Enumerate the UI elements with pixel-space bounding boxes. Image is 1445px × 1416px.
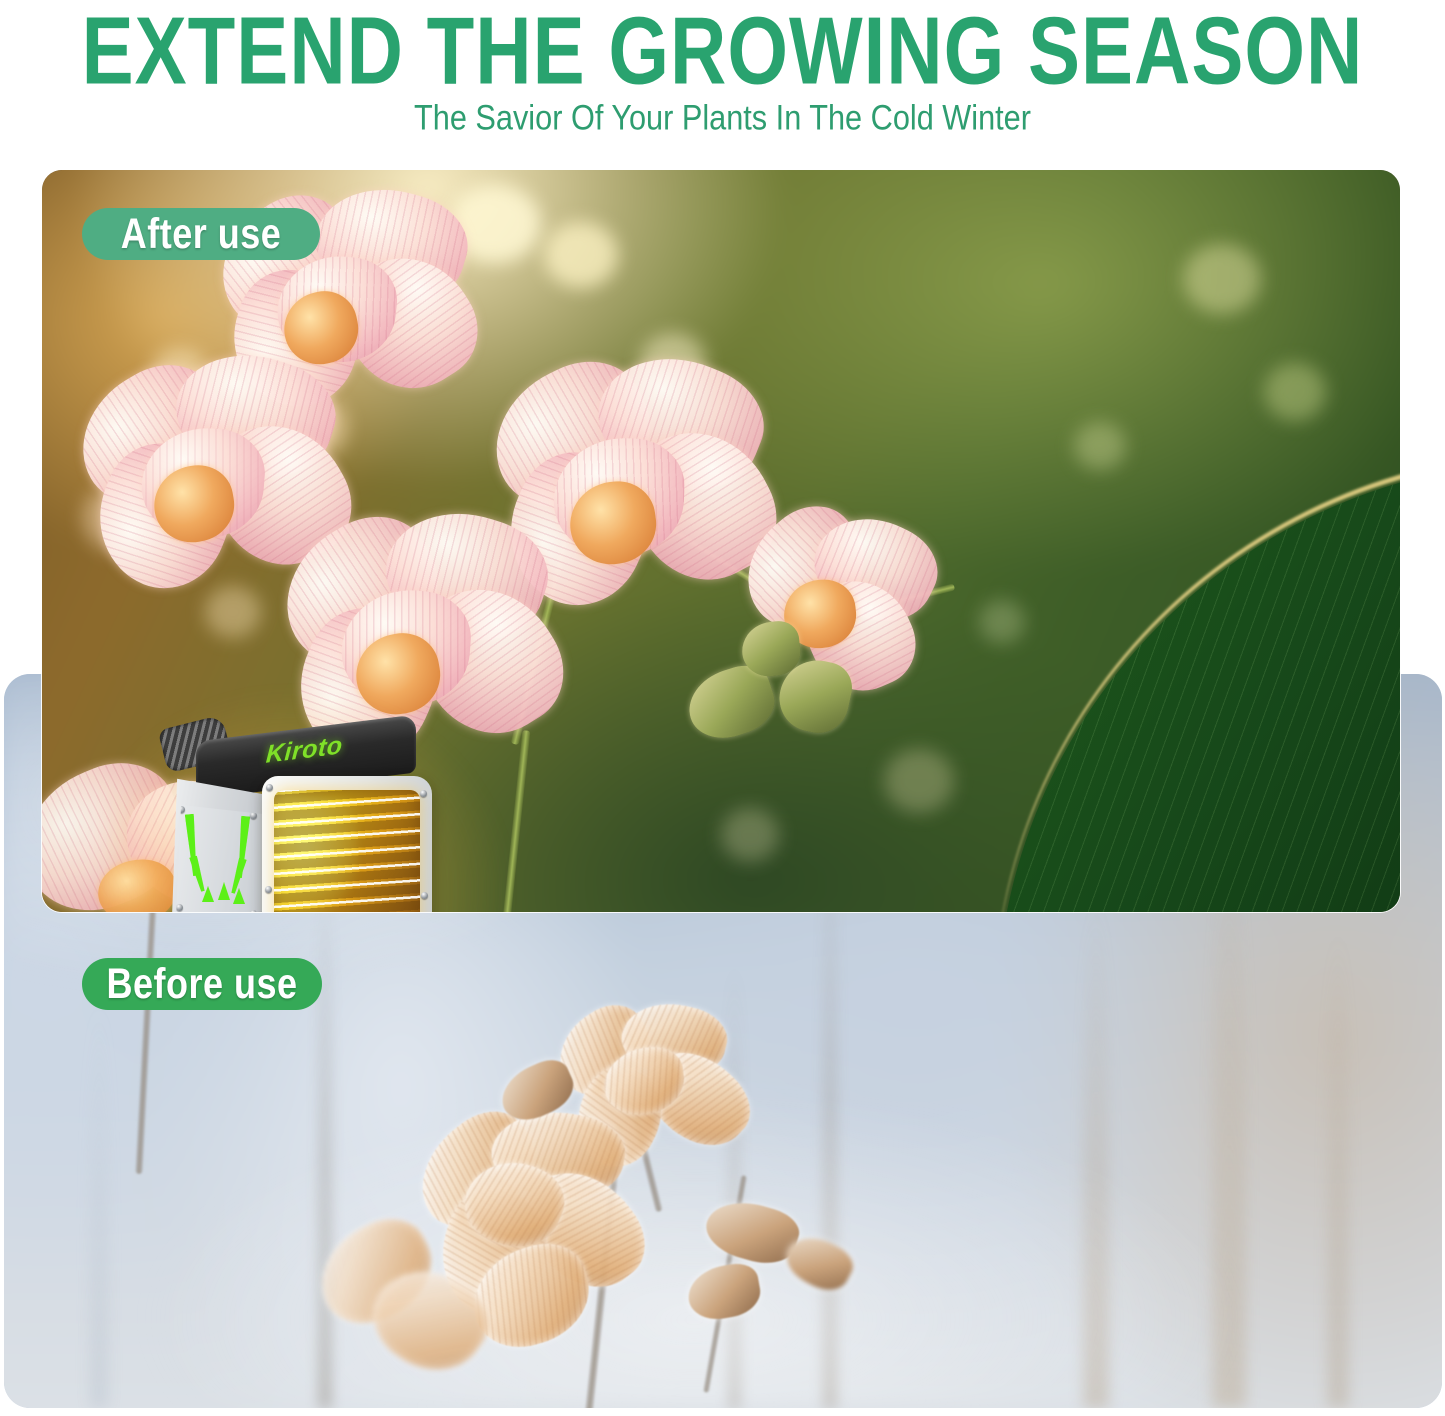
screw [176,904,183,911]
page-subtitle: The Savior Of Your Plants In The Cold Wi… [51,96,1395,139]
grille-slats [274,790,420,912]
badge-after-use: After use [82,208,320,260]
frosted-flowers [304,1004,944,1408]
vent-chevron [229,858,247,895]
badge-after-use-label: After use [121,209,282,259]
screw [421,892,428,899]
page-title: EXTEND THE GROWING SEASON [0,2,1445,100]
badge-before-use: Before use [82,958,322,1010]
heater-front-face [262,776,432,912]
screw [420,790,427,797]
heater-grille [274,790,420,912]
screw [265,886,272,893]
flower-bud [684,1260,764,1324]
vent-chevron [189,856,207,893]
heater-side-decal [174,800,262,912]
marketing-banner: EXTEND THE GROWING SEASON The Savior Of … [0,0,1445,1416]
screw [266,784,273,791]
vent-triangle [218,882,230,900]
after-use-photo: Kiroto [42,170,1400,912]
badge-before-use-label: Before use [106,959,297,1009]
product-heater: Kiroto [138,712,458,912]
